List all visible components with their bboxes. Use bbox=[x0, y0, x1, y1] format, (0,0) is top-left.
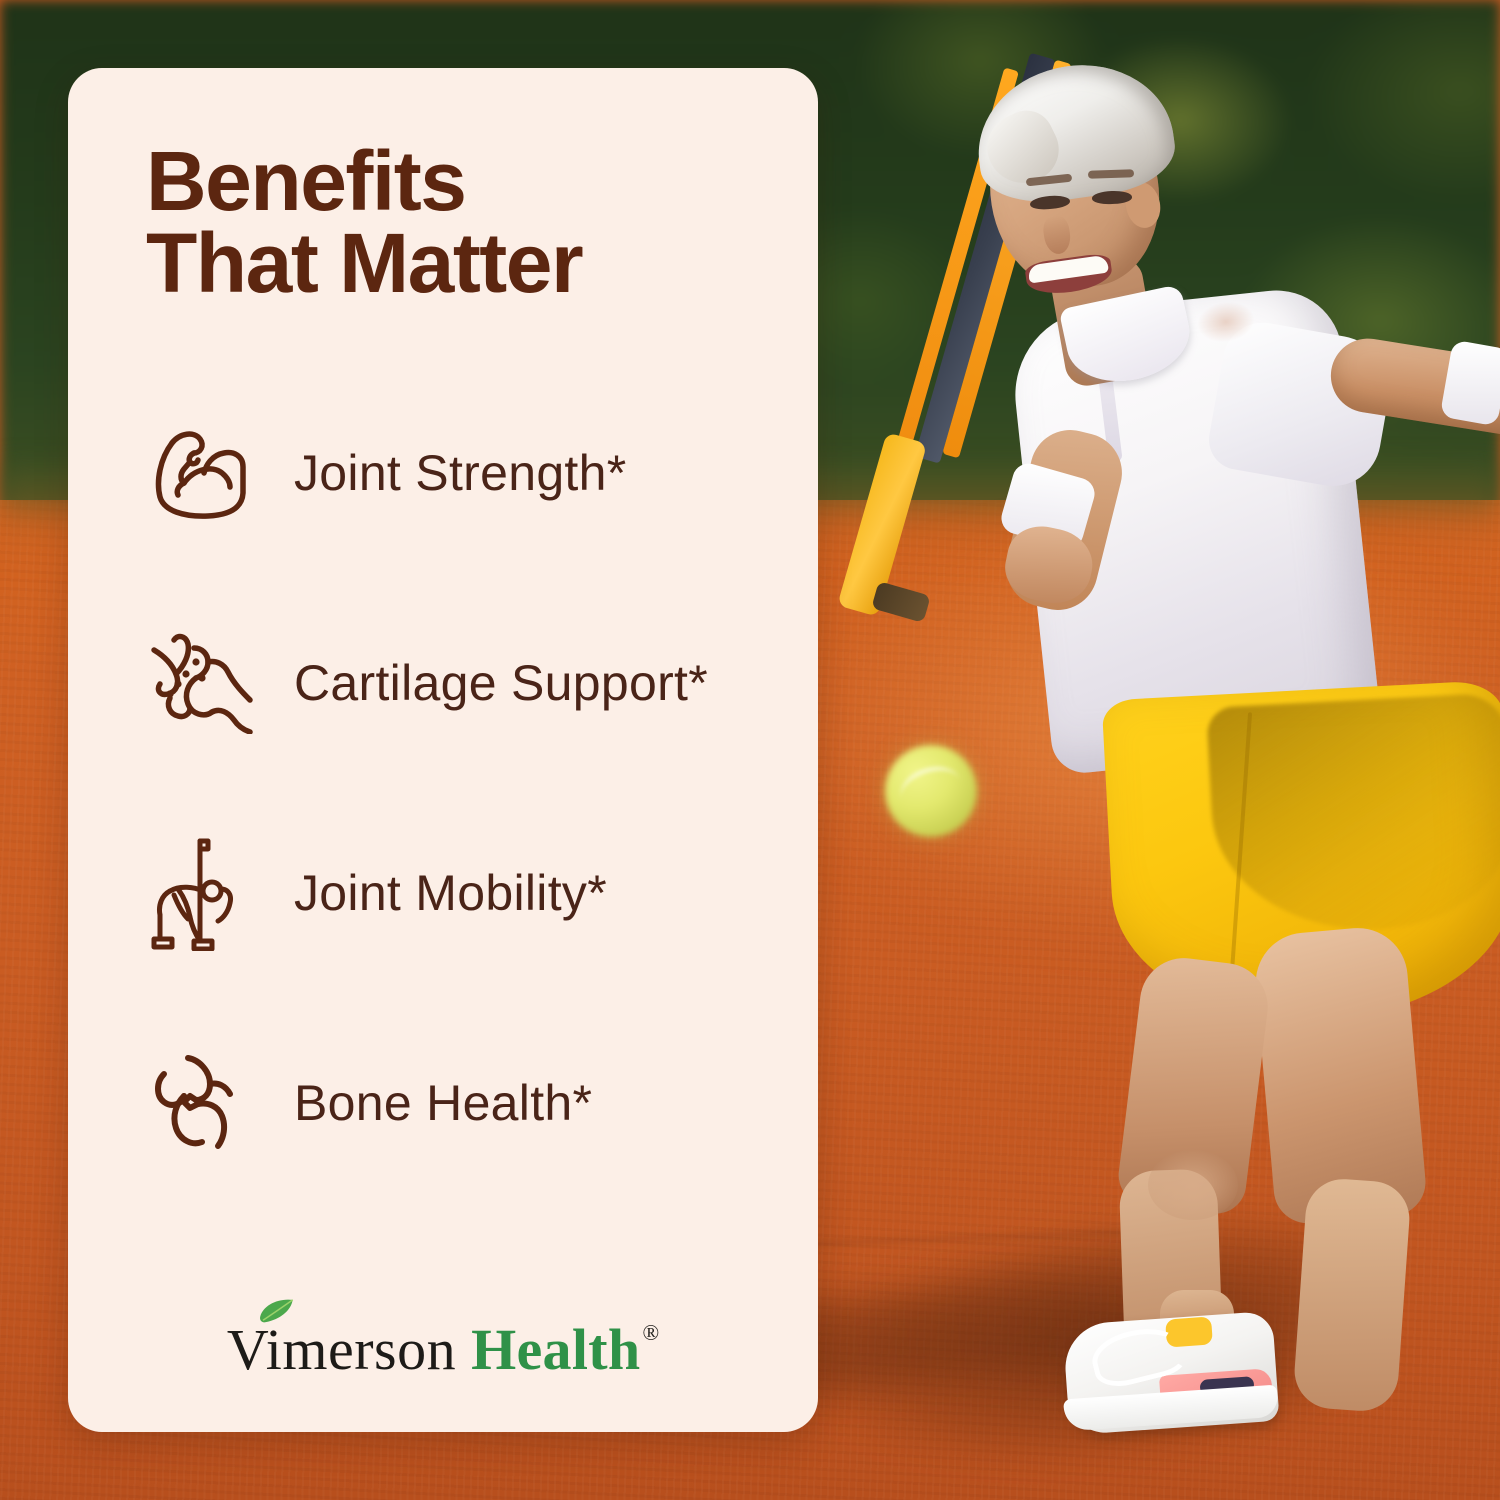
list-item: Bone Health* bbox=[146, 1053, 818, 1153]
benefit-label: Bone Health* bbox=[294, 1074, 592, 1132]
benefits-list: Joint Strength* bbox=[146, 423, 818, 1153]
benefits-card: Benefits That Matter Joint Strength* bbox=[68, 68, 818, 1432]
stretching-person-icon bbox=[146, 843, 258, 943]
registered-trademark: ® bbox=[642, 1320, 659, 1346]
bone-joint-icon bbox=[146, 1053, 258, 1153]
benefit-label: Joint Strength* bbox=[294, 444, 626, 502]
brand-logo: Vimerson Health ® bbox=[68, 1316, 818, 1383]
product-benefits-poster: Benefits That Matter Joint Strength* bbox=[0, 0, 1500, 1500]
benefit-label: Cartilage Support* bbox=[294, 654, 708, 712]
page-title: Benefits That Matter bbox=[146, 140, 818, 305]
flexed-bicep-icon bbox=[146, 423, 258, 523]
knee-cartilage-icon bbox=[146, 633, 258, 733]
brand-name-first: Vimerson bbox=[227, 1316, 456, 1383]
benefit-label: Joint Mobility* bbox=[294, 864, 607, 922]
right-shin bbox=[1292, 1177, 1412, 1414]
eyebrow-right bbox=[1088, 169, 1134, 179]
list-item: Joint Mobility* bbox=[146, 843, 818, 943]
brand-name-second: Health bbox=[471, 1316, 640, 1383]
list-item: Cartilage Support* bbox=[146, 633, 818, 733]
knee bbox=[1148, 1150, 1238, 1220]
leaf-icon bbox=[257, 1298, 295, 1324]
list-item: Joint Strength* bbox=[146, 423, 818, 523]
racket-butt-cap bbox=[871, 581, 931, 623]
